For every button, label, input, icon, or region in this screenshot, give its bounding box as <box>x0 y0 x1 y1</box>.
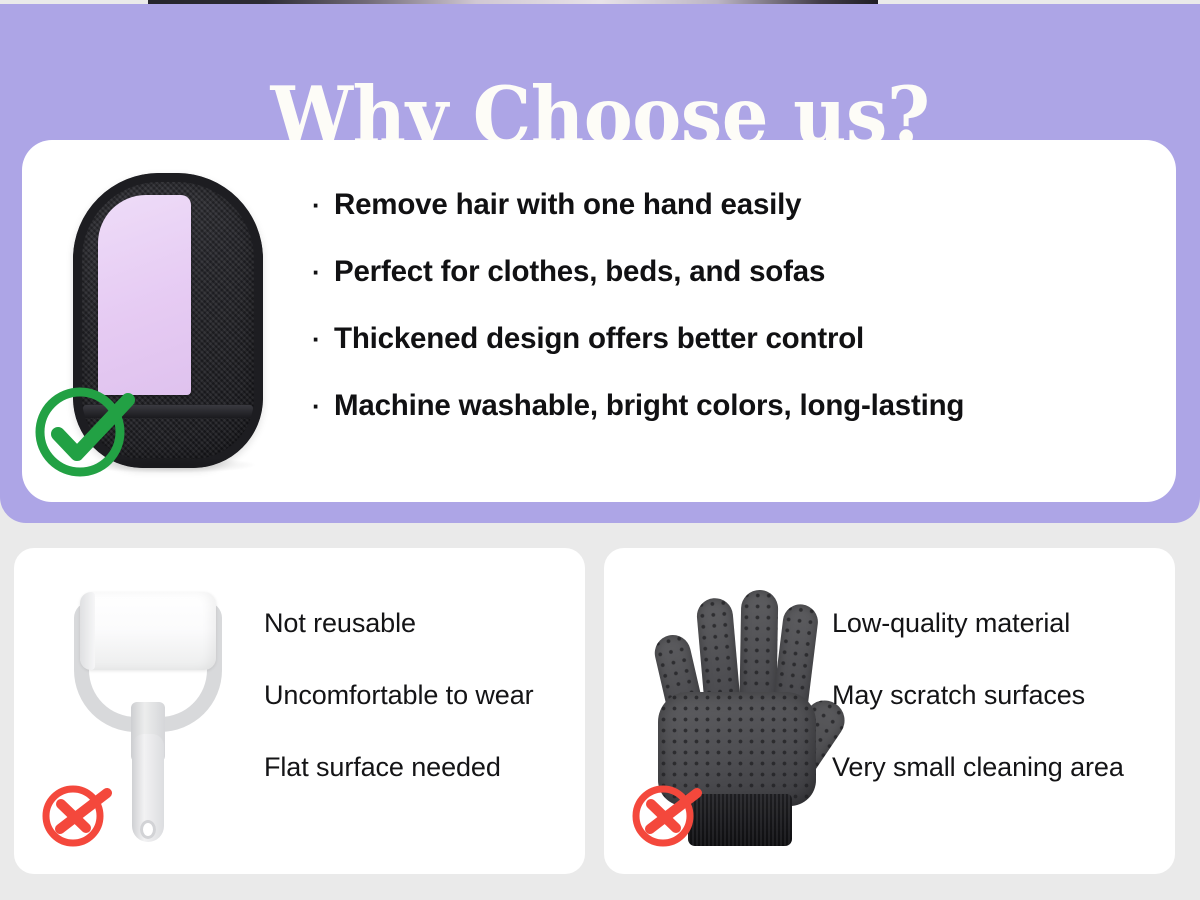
benefit-item: · Thickened design offers better control <box>312 322 1152 389</box>
cons-list-grooming-glove: Low-quality material May scratch surface… <box>832 608 1162 824</box>
hero-product-card: · Remove hair with one hand easily · Per… <box>22 140 1176 502</box>
con-item: Flat surface needed <box>264 752 585 824</box>
roller-cylinder <box>80 592 216 670</box>
cons-list-lint-roller: Not reusable Uncomfortable to wear Flat … <box>264 608 585 824</box>
bullet-icon: · <box>312 259 334 285</box>
benefit-item: · Perfect for clothes, beds, and sofas <box>312 255 1152 322</box>
bullet-icon: · <box>312 192 334 218</box>
bullet-icon: · <box>312 326 334 352</box>
check-circle-icon <box>32 378 136 482</box>
benefit-item: · Remove hair with one hand easily <box>312 188 1152 255</box>
con-item: Uncomfortable to wear <box>264 680 585 752</box>
comparison-card-grooming-glove: Low-quality material May scratch surface… <box>604 548 1175 874</box>
benefit-label: Thickened design offers better control <box>334 322 864 356</box>
hero-panel: Why Choose us? <box>0 4 1200 523</box>
why-choose-us-infographic: Why Choose us? <box>0 0 1200 900</box>
bullet-icon: · <box>312 393 334 419</box>
con-item: Low-quality material <box>832 608 1162 680</box>
benefit-label: Machine washable, bright colors, long-la… <box>334 389 964 423</box>
cross-circle-icon <box>38 775 112 849</box>
con-item: Very small cleaning area <box>832 752 1162 824</box>
benefit-label: Remove hair with one hand easily <box>334 188 801 222</box>
cross-circle-icon <box>628 775 702 849</box>
comparison-cards: Not reusable Uncomfortable to wear Flat … <box>14 548 1186 874</box>
benefit-item: · Machine washable, bright colors, long-… <box>312 389 1152 456</box>
glove-cuff <box>688 794 792 846</box>
con-item: Not reusable <box>264 608 585 680</box>
roller-hang-hole <box>140 820 156 839</box>
benefit-label: Perfect for clothes, beds, and sofas <box>334 255 825 289</box>
comparison-card-lint-roller: Not reusable Uncomfortable to wear Flat … <box>14 548 585 874</box>
benefits-list: · Remove hair with one hand easily · Per… <box>312 188 1152 456</box>
con-item: May scratch surfaces <box>832 680 1162 752</box>
